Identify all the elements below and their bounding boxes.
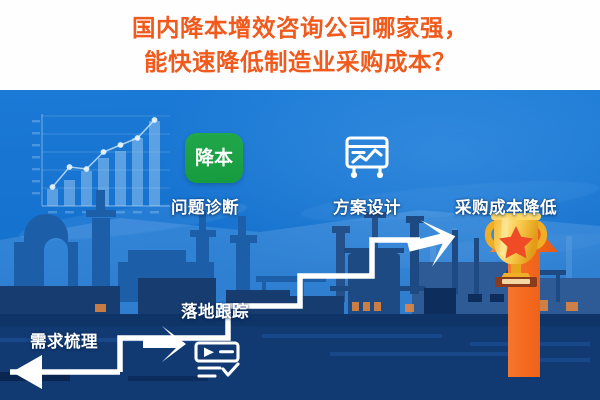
- title-line-2: 能快速降低制造业采购成本？: [144, 45, 456, 79]
- presentation-chart-icon: [343, 134, 391, 180]
- node-label-xuqiu: 需求梳理: [30, 328, 98, 352]
- node-label-caigou: 采购成本降低: [455, 194, 557, 218]
- infographic-page: 国内降本增效咨询公司哪家强， 能快速降低制造业采购成本？: [0, 0, 600, 400]
- banner-image: 降本: [0, 90, 600, 400]
- node-label-luodi: 落地跟踪: [181, 298, 249, 322]
- title-line-1: 国内降本增效咨询公司哪家强，: [132, 11, 468, 45]
- page-title: 国内降本增效咨询公司哪家强， 能快速降低制造业采购成本？: [0, 0, 600, 90]
- checklist-icon: [193, 338, 241, 384]
- node-label-wenti: 问题诊断: [171, 194, 239, 218]
- badge-label: 降本: [195, 149, 233, 168]
- cost-reduction-badge[interactable]: 降本: [185, 133, 243, 183]
- node-label-fangan: 方案设计: [333, 194, 401, 218]
